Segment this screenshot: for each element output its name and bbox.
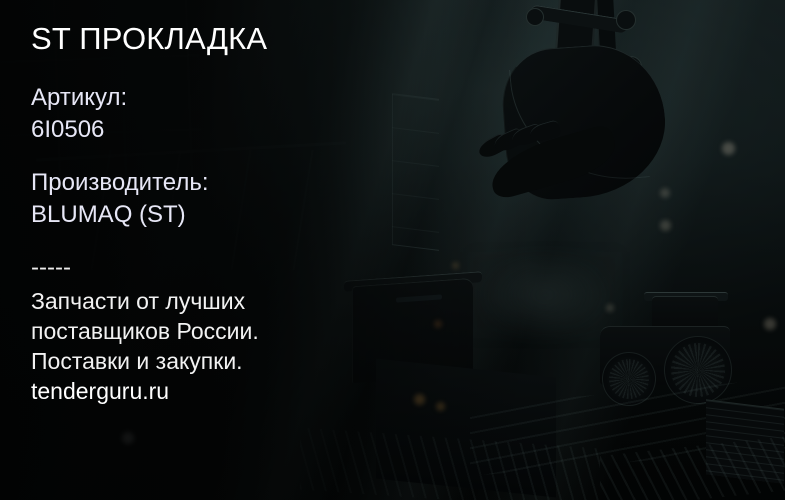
article-value: 6I0506 (31, 114, 765, 146)
banner-content: ST ПРОКЛАДКА Артикул: 6I0506 Производите… (31, 22, 765, 407)
product-banner: ST ПРОКЛАДКА Артикул: 6I0506 Производите… (0, 0, 785, 500)
promo-line-1: Запчасти от лучших (31, 287, 765, 317)
manufacturer-value: BLUMAQ (ST) (31, 199, 765, 231)
article-label: Артикул: (31, 82, 765, 114)
field-article: Артикул: 6I0506 (31, 82, 765, 145)
field-manufacturer: Производитель: BLUMAQ (ST) (31, 167, 765, 230)
manufacturer-label: Производитель: (31, 167, 765, 199)
promo-line-3: Поставки и закупки. (31, 347, 765, 377)
product-title: ST ПРОКЛАДКА (31, 22, 765, 56)
promo-line-2: поставщиков России. (31, 317, 765, 347)
website-link[interactable]: tenderguru.ru (31, 377, 765, 407)
section-divider: ----- (31, 255, 765, 281)
promo-text-block: Запчасти от лучших поставщиков России. П… (31, 287, 765, 407)
